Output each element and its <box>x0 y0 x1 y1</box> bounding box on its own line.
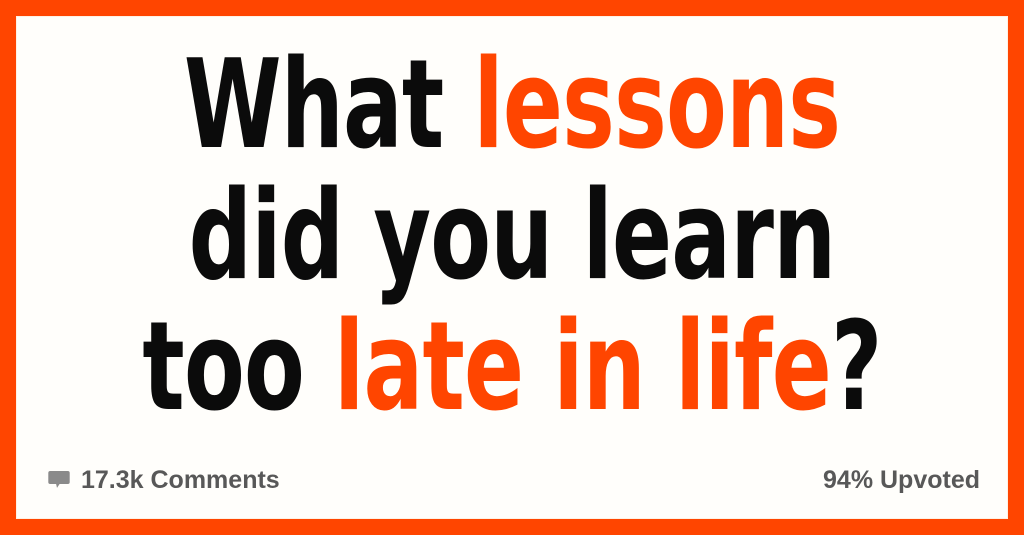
comments-stat[interactable]: 17.3k Comments <box>48 468 280 493</box>
headline-line-3-plain-tail: ? <box>831 296 882 439</box>
headline-line-3-plain-lead: too <box>142 296 334 439</box>
headline-line-2: did you learn <box>115 171 909 302</box>
comment-bubble-icon <box>48 469 70 491</box>
headline-line-3-accent: late in life <box>334 296 831 439</box>
card-footer: 17.3k Comments 94% Upvoted <box>48 463 980 497</box>
headline-line-1: What lessons <box>115 40 909 171</box>
page-title: What lessons did you learn too late in l… <box>16 40 1008 433</box>
post-card: What lessons did you learn too late in l… <box>0 0 1024 535</box>
upvoted-label: 94% Upvoted <box>823 466 980 494</box>
comments-count-label: 17.3k Comments <box>81 468 280 493</box>
upvoted-stat: 94% Upvoted <box>823 468 980 493</box>
headline-line-1-plain: What <box>184 34 474 177</box>
headline-line-3: too late in life? <box>115 302 909 433</box>
headline-line-1-accent: lessons <box>473 34 840 177</box>
card-canvas: What lessons did you learn too late in l… <box>16 16 1008 519</box>
headline-line-2-plain: did you learn <box>189 165 836 308</box>
